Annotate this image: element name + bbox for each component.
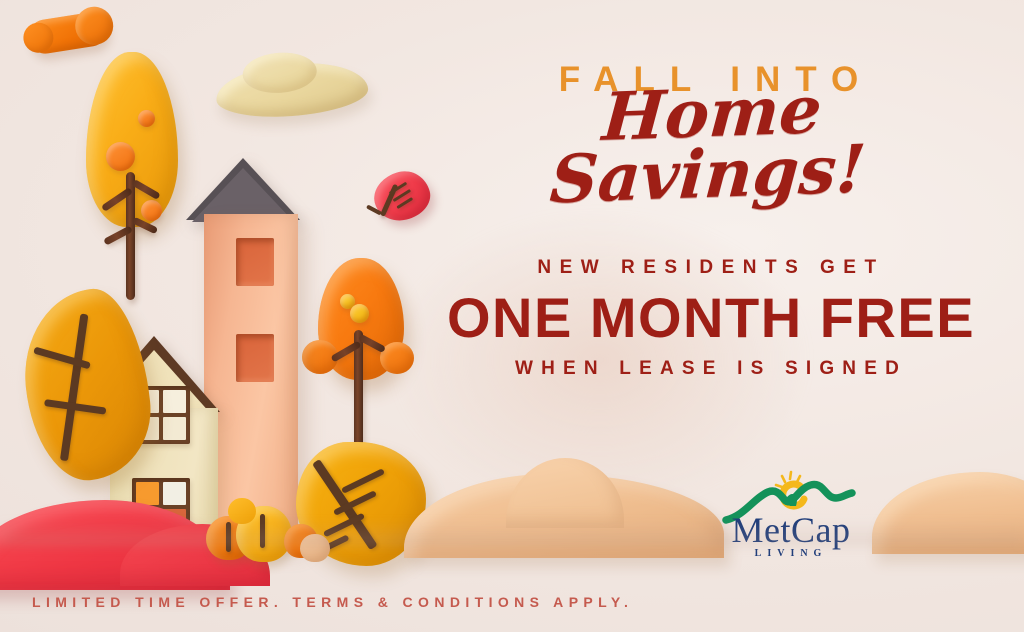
- offer-block: NEW RESIDENTS GET ONE MONTH FREE WHEN LE…: [430, 258, 992, 378]
- logo-tagline: LIVING: [718, 548, 864, 559]
- disclaimer-text: LIMITED TIME OFFER. TERMS & CONDITIONS A…: [32, 594, 633, 610]
- headline-block: FALL INTO Home Savings!: [500, 62, 920, 204]
- offer-condition: WHEN LEASE IS SIGNED: [430, 359, 992, 378]
- metcap-logo[interactable]: MetCap LIVING: [718, 468, 864, 568]
- fall-promo-banner: FALL INTO Home Savings! NEW RESIDENTS GE…: [0, 0, 1024, 632]
- offer-eyebrow: NEW RESIDENTS GET: [430, 258, 992, 277]
- ground-shadow: [0, 520, 1024, 546]
- headline-script: Home Savings!: [495, 76, 925, 212]
- offer-headline: ONE MONTH FREE: [430, 288, 992, 348]
